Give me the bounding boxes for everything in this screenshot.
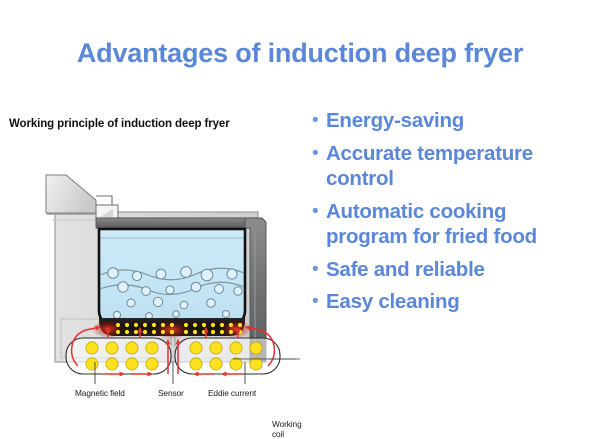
label-working-coil: Working coil bbox=[272, 420, 302, 439]
list-item-label: Accurate temperature control bbox=[326, 141, 558, 192]
induction-fryer-diagram bbox=[0, 134, 300, 406]
label-eddie-current: Eddie current bbox=[208, 389, 256, 399]
label-sensor: Sensor bbox=[158, 389, 184, 399]
bullet-marker-icon: • bbox=[306, 289, 326, 314]
label-magnetic-field: Magnetic field bbox=[75, 389, 125, 399]
list-item: • Easy cleaning bbox=[306, 289, 600, 315]
bullet-marker-icon: • bbox=[306, 141, 326, 166]
list-item: • Safe and reliable bbox=[306, 257, 600, 283]
page-title: Advantages of induction deep fryer bbox=[0, 38, 600, 69]
bullet-marker-icon: • bbox=[306, 108, 326, 133]
list-item-label: Automatic cooking program for fried food bbox=[326, 199, 544, 250]
diagram-caption: Working principle of induction deep frye… bbox=[9, 118, 230, 130]
list-item-label: Safe and reliable bbox=[326, 257, 576, 283]
advantages-list: • Energy-saving • Accurate temperature c… bbox=[306, 108, 600, 322]
slide: Advantages of induction deep fryer Worki… bbox=[0, 0, 600, 406]
bullet-marker-icon: • bbox=[306, 257, 326, 282]
list-item-label: Easy cleaning bbox=[326, 289, 576, 315]
list-item-label: Energy-saving bbox=[326, 108, 576, 134]
list-item: • Energy-saving bbox=[306, 108, 600, 134]
heater-sensor-band bbox=[92, 318, 252, 339]
list-item: • Accurate temperature control bbox=[306, 141, 600, 192]
bullet-marker-icon: • bbox=[306, 199, 326, 224]
oil-tank bbox=[99, 229, 245, 324]
list-item: • Automatic cooking program for fried fo… bbox=[306, 199, 600, 250]
diagram-panel: Working principle of induction deep frye… bbox=[0, 104, 300, 406]
control-panel-housing bbox=[46, 174, 118, 220]
